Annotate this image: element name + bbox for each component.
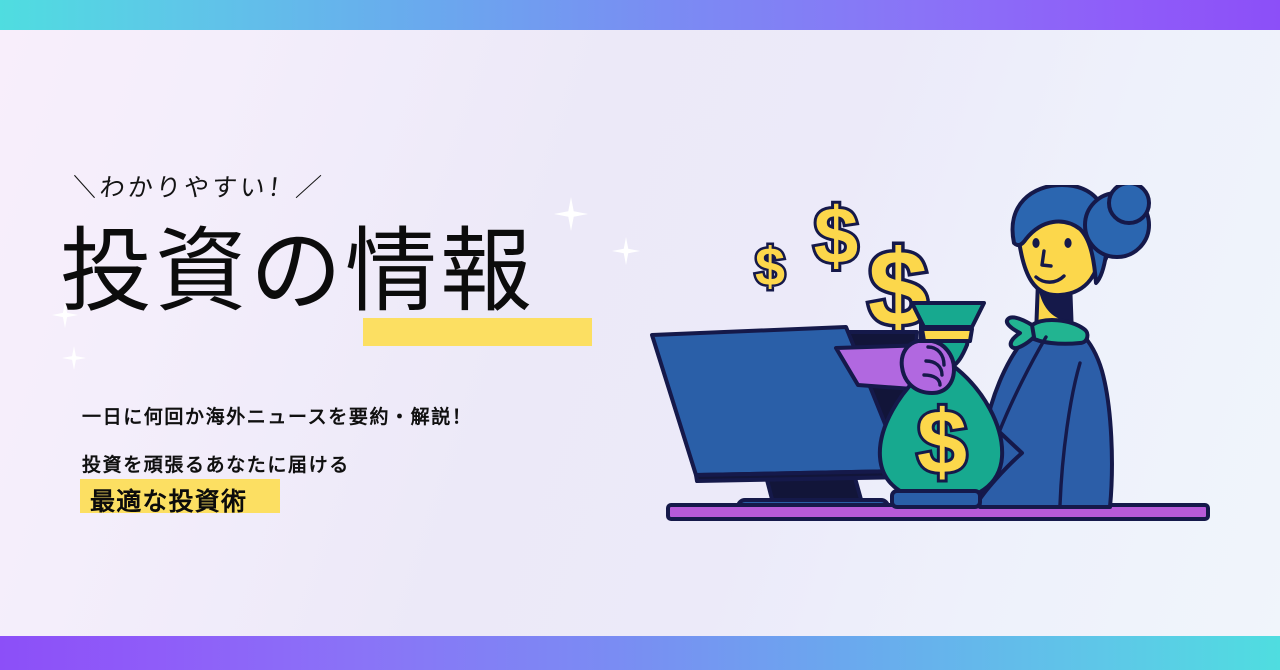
subtitle-line-1: 一日に何回か海外ニュースを要約・解説！ <box>82 402 472 429</box>
svg-text:$: $ <box>755 237 785 297</box>
subtitle-line-2: 投資を頑張るあなたに届ける <box>82 450 350 477</box>
dollar-sign-medium-icon: $ <box>814 191 859 280</box>
top-gradient-band <box>0 0 1280 30</box>
sparkle-icon-4 <box>62 346 86 370</box>
dollar-sign-small-icon: $ <box>755 237 785 297</box>
purple-hand-gripping-bag <box>902 341 954 393</box>
keyboard-pad <box>892 491 980 507</box>
bottom-gradient-band <box>0 636 1280 670</box>
illustration-woman-at-desk: .ol { stroke: #15194a; stroke-width: 4; … <box>640 185 1240 545</box>
sparkle-icon-1 <box>554 197 588 231</box>
investment-info-banner: ＼わかりやすい！／ 投資の情報 一日に何回か海外ニュースを要約・解説！ 投資を頑… <box>0 0 1280 670</box>
svg-text:$: $ <box>814 191 859 280</box>
svg-text:$: $ <box>917 393 967 493</box>
subtitle-line-3: 最適な投資術 <box>90 482 247 518</box>
page-title: 投資の情報 <box>60 222 535 321</box>
catch-copy: ＼わかりやすい！／ <box>70 168 326 204</box>
sparkle-icon-2 <box>612 237 640 265</box>
